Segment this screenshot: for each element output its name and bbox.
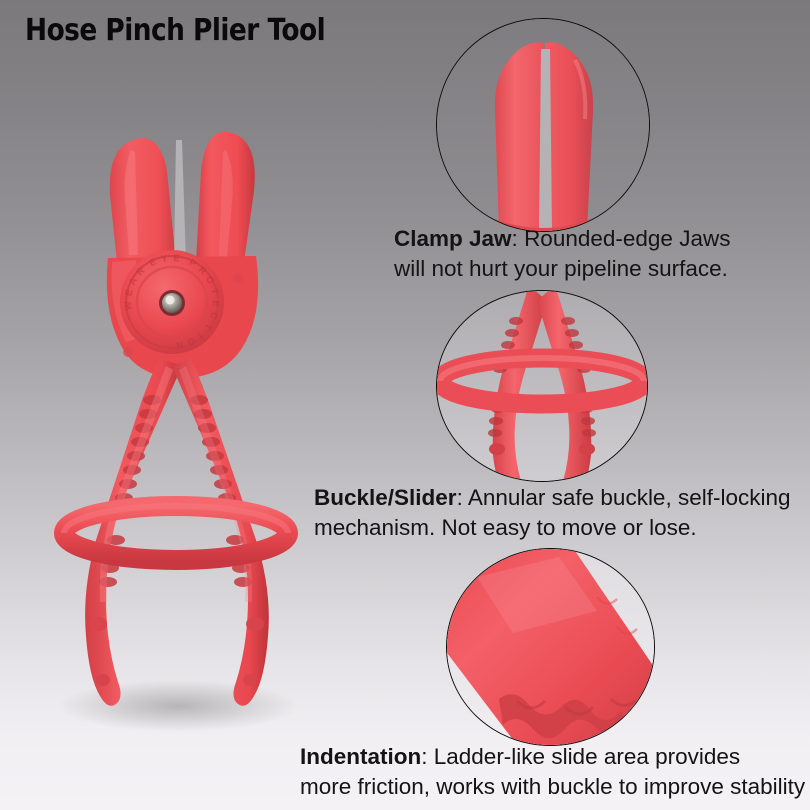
- callout-label-clamp-jaw: Clamp Jaw: [394, 226, 512, 251]
- callout-line1-indentation: Ladder-like slide area provides: [434, 744, 740, 769]
- svg-text:E: E: [210, 300, 221, 307]
- callout-text-clamp-jaw: Clamp Jaw: Rounded-edge Jaws will not hu…: [394, 224, 730, 284]
- callout-circle-clamp-jaw: [436, 18, 650, 232]
- product-image-hose-pinch-plier: W E A R E Y E P R O T E C T I O N: [0, 0, 810, 810]
- callout-separator-buckle-slider: :: [457, 485, 468, 510]
- svg-text:W: W: [123, 301, 135, 311]
- svg-text:E: E: [173, 253, 180, 265]
- callout-label-buckle-slider: Buckle/Slider: [314, 485, 457, 510]
- callout-separator-indentation: :: [421, 744, 434, 769]
- callout-text-indentation: Indentation: Ladder-like slide area prov…: [300, 742, 805, 802]
- callout-label-indentation: Indentation: [300, 744, 421, 769]
- handles-group: [85, 358, 269, 706]
- callout-text-buckle-slider: Buckle/Slider: Annular safe buckle, self…: [314, 483, 791, 543]
- callout-line2-clamp-jaw: will not hurt your pipeline surface.: [394, 254, 730, 284]
- callout-line1-clamp-jaw: Rounded-edge Jaws: [524, 226, 730, 251]
- callout-line2-buckle-slider: mechanism. Not easy to move or lose.: [314, 513, 791, 543]
- callout-line1-buckle-slider: Annular safe buckle, self-locking: [468, 485, 791, 510]
- callout-circle-buckle-slider: [436, 290, 648, 482]
- callout-circle-indentation: [446, 548, 655, 746]
- buckle-slider-ring: [64, 506, 288, 560]
- callout-separator-clamp-jaw: :: [512, 226, 525, 251]
- infographic-canvas: Hose Pinch Plier Tool: [0, 0, 810, 810]
- callout-line2-indentation: more friction, works with buckle to impr…: [300, 772, 805, 802]
